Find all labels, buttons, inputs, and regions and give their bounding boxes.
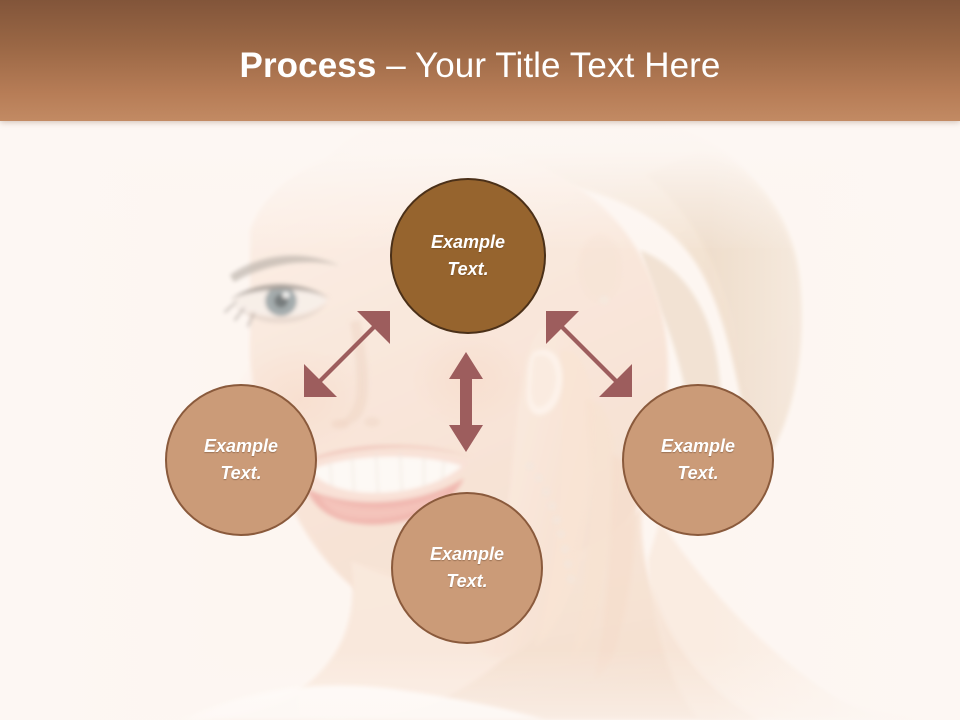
double-arrow-vertical <box>449 352 483 452</box>
process-node-left-line2: Text. <box>220 460 261 487</box>
process-node-left[interactable]: Example Text. <box>165 384 317 536</box>
process-node-bottom[interactable]: Example Text. <box>391 492 543 644</box>
process-node-bottom-line1: Example <box>430 541 504 568</box>
process-node-top-line2: Text. <box>447 256 488 283</box>
process-node-bottom-line2: Text. <box>446 568 487 595</box>
double-arrow-top-right <box>546 311 632 397</box>
slide-canvas: Process – Your Title Text Here Example T… <box>0 0 960 720</box>
process-node-right[interactable]: Example Text. <box>622 384 774 536</box>
process-node-top[interactable]: Example Text. <box>390 178 546 334</box>
process-node-top-line1: Example <box>431 229 505 256</box>
process-node-left-line1: Example <box>204 433 278 460</box>
process-node-right-line2: Text. <box>677 460 718 487</box>
process-node-right-line1: Example <box>661 433 735 460</box>
process-diagram: Example Text. Example Text. Example Text… <box>0 0 960 720</box>
double-arrow-top-left <box>304 311 390 397</box>
